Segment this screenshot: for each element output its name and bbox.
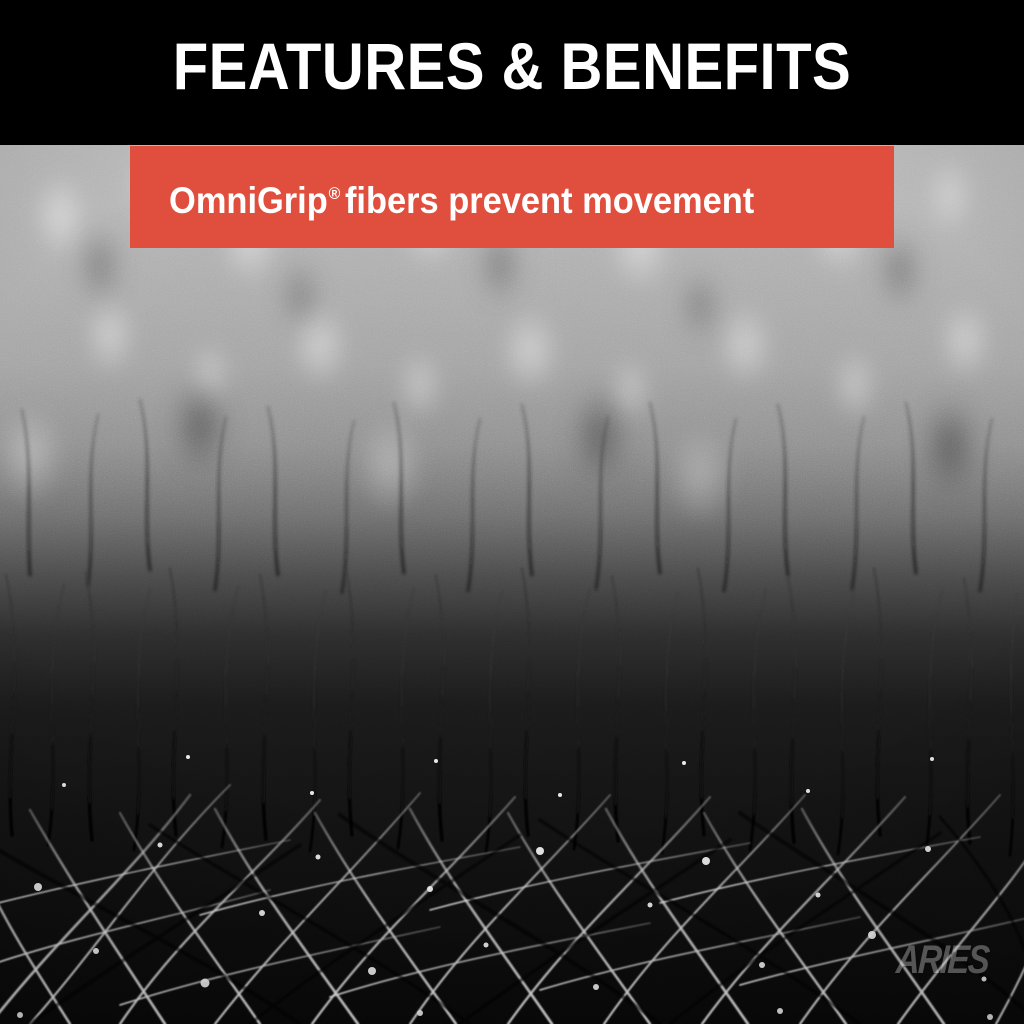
header-bar: FEATURES & BENEFITS xyxy=(0,0,1024,145)
feature-caption-text: OmniGrip®fibers prevent movement xyxy=(130,175,754,219)
registered-trademark-icon: ® xyxy=(329,184,341,203)
caption-remainder: fibers prevent movement xyxy=(345,180,754,221)
brand-name: OmniGrip xyxy=(169,180,328,221)
fiber-closeup-photo xyxy=(0,145,1024,1024)
feature-caption-banner: OmniGrip®fibers prevent movement xyxy=(130,146,894,248)
product-feature-card: FEATURES & BENEFITS xyxy=(0,0,1024,1024)
photo-grain-overlay xyxy=(0,145,1024,1024)
page-title: FEATURES & BENEFITS xyxy=(61,33,962,99)
